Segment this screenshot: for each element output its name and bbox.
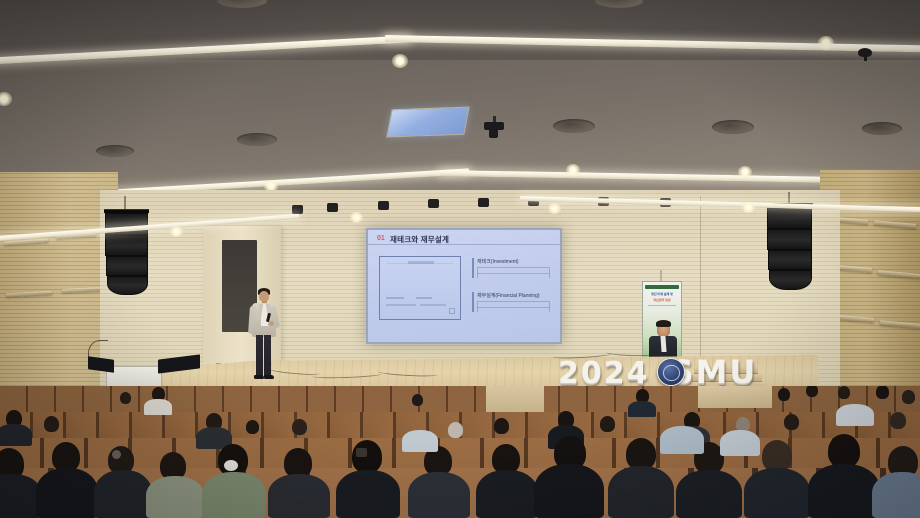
presenter-shoe <box>264 375 274 379</box>
ceiling-vent <box>553 119 595 133</box>
line-array-speaker-left <box>105 235 148 256</box>
line-array-speaker-right <box>767 229 812 250</box>
ceiling-vent <box>862 122 902 135</box>
audience-body <box>608 466 674 518</box>
slide-figure-box <box>379 256 461 320</box>
line-array-speaker-right <box>767 207 812 229</box>
audience-head <box>448 422 463 438</box>
audience-head <box>902 390 915 404</box>
slide-section-lines <box>477 267 550 278</box>
audience-head <box>412 394 423 406</box>
ceiling-downlight <box>818 36 834 50</box>
audience-body <box>628 401 656 417</box>
ceiling-downlight <box>170 226 183 237</box>
presenter-leg <box>256 335 263 377</box>
audience-head <box>600 416 615 432</box>
audience-head <box>838 386 850 399</box>
audience-body <box>402 430 438 452</box>
audience-head <box>876 386 889 399</box>
audience-area <box>0 386 920 518</box>
audience-body <box>676 470 742 518</box>
stage-branding-letters: 2 0 2 4 S M U <box>558 358 755 387</box>
slide-section-lines <box>477 301 550 312</box>
speaker-hanger <box>124 196 126 210</box>
audience-head <box>890 412 906 429</box>
ceiling-vent <box>96 145 134 157</box>
hair-accessory <box>112 450 121 459</box>
slide-section-investment: 재테크(Investment) <box>472 258 550 278</box>
audience-body <box>534 464 604 518</box>
presenter <box>246 288 280 386</box>
audience-head <box>806 386 818 397</box>
audience-body <box>720 430 760 456</box>
audience-head <box>784 414 799 430</box>
ceiling-downlight <box>0 92 12 106</box>
banner-top-bar <box>645 285 679 289</box>
audience-body <box>836 404 874 426</box>
audience-head <box>292 419 307 435</box>
audience-head <box>120 392 131 404</box>
line-array-speaker-left <box>107 276 148 295</box>
banner-headline: 청년 미래 설계 및 <box>645 292 679 296</box>
audience-body <box>408 472 470 518</box>
line-array-speaker-right <box>768 250 812 270</box>
audience-head <box>246 420 259 434</box>
ceiling-vent <box>237 133 277 146</box>
audience-body <box>660 426 704 454</box>
ceiling-skylight-panel <box>386 107 469 138</box>
ceiling <box>0 0 920 215</box>
ceiling-downlight <box>742 202 755 213</box>
audience-head <box>778 388 790 401</box>
line-array-speaker-right <box>769 270 812 290</box>
audience-body <box>94 470 152 518</box>
ceiling-downlight <box>738 166 752 178</box>
audience-body <box>146 476 204 518</box>
audience-body <box>872 472 920 518</box>
brand-glyph: 4 <box>627 361 648 387</box>
projector-lens-housing <box>489 129 498 138</box>
audience-body <box>0 424 32 446</box>
ceiling-downlight <box>548 203 561 214</box>
slide-section-financial-planning: 재무설계(Financial Planning) <box>472 292 550 312</box>
university-emblem <box>657 358 685 386</box>
stage-spotlight <box>292 205 303 214</box>
audience-body <box>36 468 98 518</box>
slide-bullet-marker: 01 <box>377 235 385 242</box>
banner-subheadline: 자산관리 특강 <box>645 298 679 302</box>
audience-body <box>744 468 810 518</box>
ceiling-vent <box>712 120 754 134</box>
ceiling-downlight <box>392 54 408 68</box>
audience-head <box>44 416 59 432</box>
line-array-speaker-left <box>106 256 148 276</box>
auditorium-photo: 01 재테크와 재무설계 재테크(Investment) 재무설계(Financ… <box>0 0 920 518</box>
audience-body <box>268 474 330 518</box>
audience-body <box>476 470 538 518</box>
brand-glyph: M <box>696 359 728 387</box>
presenter-shoe <box>254 375 264 379</box>
ceiling-downlight <box>350 212 363 223</box>
audience-head <box>828 434 860 468</box>
stage-spotlight <box>428 199 439 208</box>
hair-accessory <box>356 448 367 457</box>
stage-spotlight <box>478 198 489 207</box>
slide-section-label: 재테크(Investment) <box>477 258 550 265</box>
audience-body <box>336 470 400 518</box>
stage-spotlight <box>378 201 389 210</box>
ceiling-downlight <box>566 164 580 176</box>
brand-glyph: 0 <box>581 361 602 387</box>
brand-glyph: U <box>729 359 755 387</box>
brand-glyph: 2 <box>558 361 579 387</box>
presenter-leg <box>264 335 271 377</box>
presentation-slide: 01 재테크와 재무설계 재테크(Investment) 재무설계(Financ… <box>368 230 560 342</box>
audience-body <box>808 464 880 518</box>
slide-section-label: 재무설계(Financial Planning) <box>477 292 550 299</box>
hair-accessory <box>224 460 238 471</box>
audience-head <box>494 418 509 434</box>
slide-title: 재테크와 재무설계 <box>390 234 449 245</box>
brand-glyph: 2 <box>604 361 625 387</box>
audience-body <box>202 472 266 518</box>
audience-body <box>144 399 172 415</box>
presenter-hand <box>269 321 274 326</box>
stage-spotlight <box>327 203 338 212</box>
